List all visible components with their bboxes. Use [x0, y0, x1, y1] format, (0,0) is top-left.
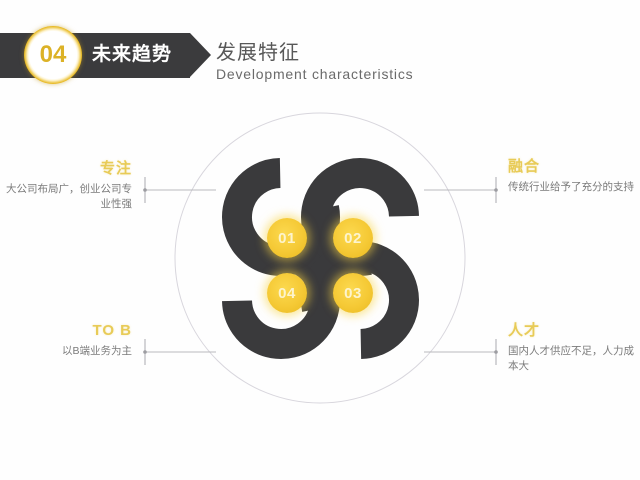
pinwheel-diagram — [0, 0, 640, 480]
diagram-badge-03-label: 03 — [344, 286, 362, 301]
diagram-badge-02-label: 02 — [344, 231, 362, 246]
diagram-badge-03[interactable]: 03 — [333, 273, 373, 313]
diagram-badge-04[interactable]: 04 — [267, 273, 307, 313]
diagram-badge-01-label: 01 — [278, 231, 296, 246]
connector-bottom-right — [424, 339, 498, 365]
callout-top-left-desc: 大公司布局广，创业公司专业性强 — [6, 182, 132, 212]
callout-top-right: 融合 传统行业给予了充分的支持 — [508, 158, 636, 195]
diagram-badge-01[interactable]: 01 — [267, 218, 307, 258]
callout-bottom-left-desc: 以B端业务为主 — [6, 344, 132, 359]
callout-bottom-right-desc: 国内人才供应不足，人力成本大 — [508, 344, 636, 374]
diagram-badge-04-label: 04 — [278, 286, 296, 301]
callout-bottom-left-title: TO B — [6, 322, 132, 340]
callout-top-left-title: 专注 — [6, 160, 132, 178]
callout-bottom-right-title: 人才 — [508, 322, 636, 340]
connector-top-left — [143, 177, 216, 203]
connector-bottom-left — [143, 339, 216, 365]
slide-canvas: 04 未来趋势 发展特征 Development characteristics — [0, 0, 640, 480]
callout-top-left: 专注 大公司布局广，创业公司专业性强 — [6, 160, 132, 212]
diagram-badge-02[interactable]: 02 — [333, 218, 373, 258]
callout-bottom-right: 人才 国内人才供应不足，人力成本大 — [508, 322, 636, 374]
callout-top-right-title: 融合 — [508, 158, 636, 176]
callout-top-right-desc: 传统行业给予了充分的支持 — [508, 180, 636, 195]
connector-top-right — [424, 177, 498, 203]
callout-bottom-left: TO B 以B端业务为主 — [6, 322, 132, 359]
